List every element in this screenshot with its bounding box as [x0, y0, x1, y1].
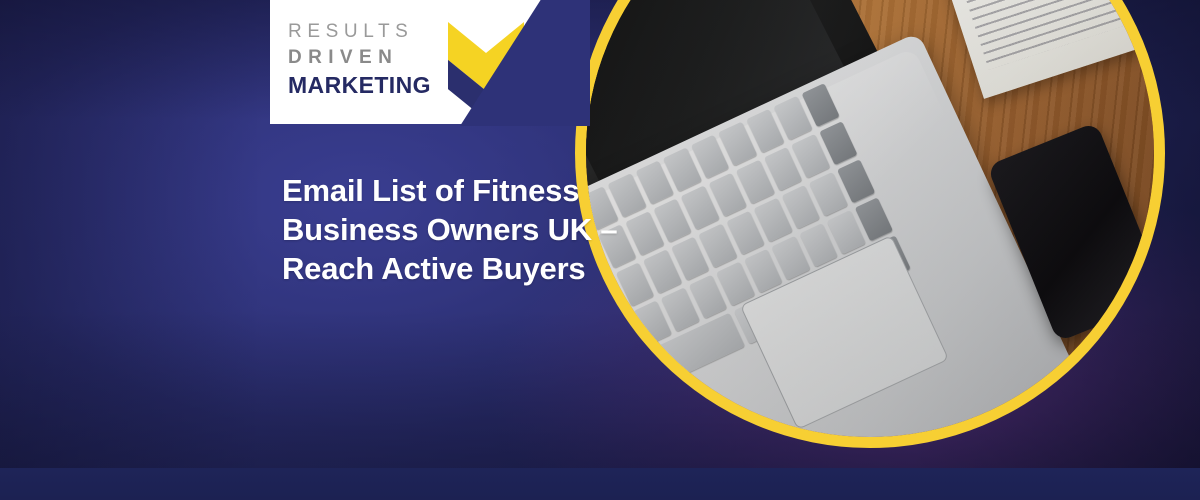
page-title: Email List of Fitness Business Owners UK… — [282, 171, 632, 288]
logo-line-driven: DRIVEN — [288, 48, 460, 67]
logo-line-results: RESULTS — [288, 22, 460, 41]
footer-band — [0, 468, 1200, 500]
photo-ring — [575, 0, 1165, 448]
photo-tint — [586, 0, 1154, 437]
logo-line-marketing: MARKETING — [288, 74, 460, 97]
hero-banner: RESULTS DRIVEN MARKETING Email List of F… — [0, 0, 1200, 500]
desk-photo — [586, 0, 1154, 437]
logo-wordmark: RESULTS DRIVEN MARKETING — [288, 22, 460, 97]
